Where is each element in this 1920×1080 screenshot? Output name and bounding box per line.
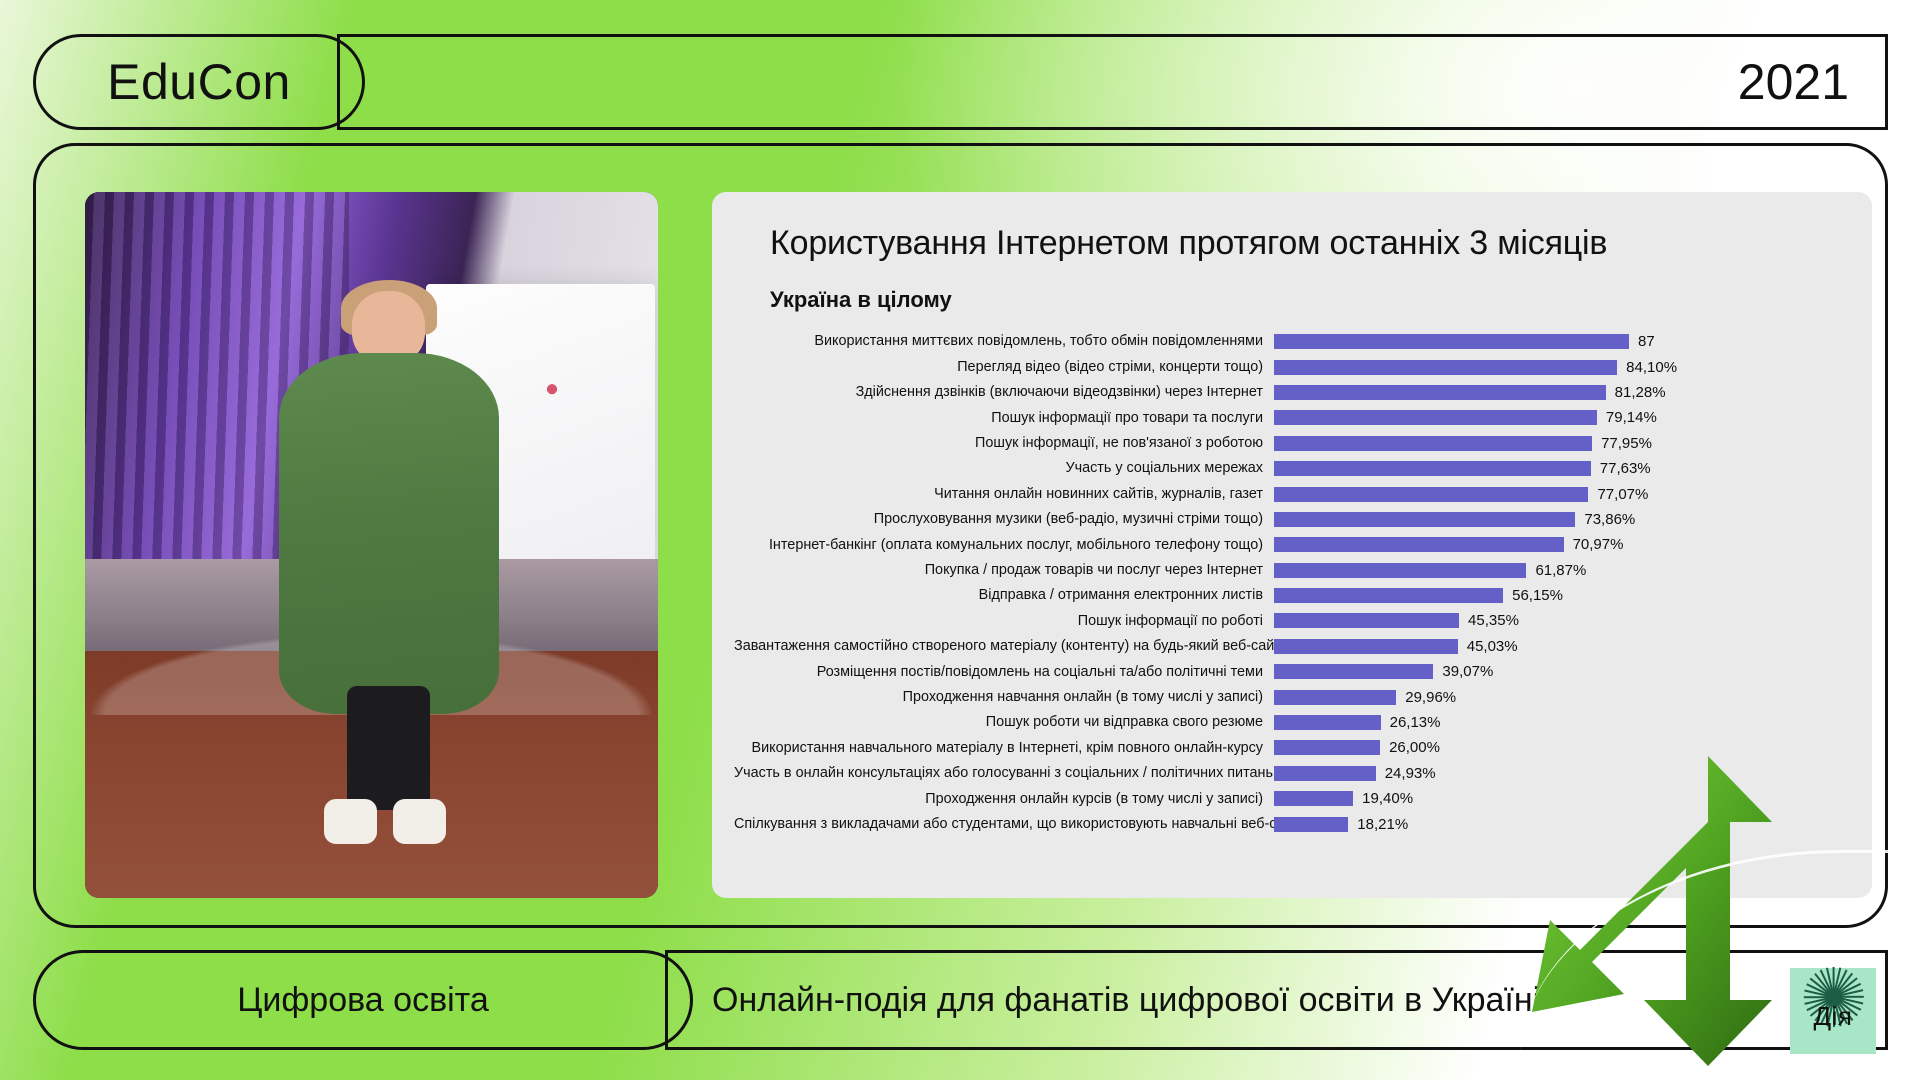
chart-row-label: Проходження онлайн курсів (в тому числі …: [734, 792, 1274, 806]
chart-value-label: 56,15%: [1503, 587, 1563, 604]
chart-row: Відправка / отримання електронних листів…: [734, 583, 1842, 608]
chart-row-bar-wrap: 29,96%: [1274, 684, 1842, 709]
photo-speaker-coat: [279, 353, 499, 714]
chart-row-label: Пошук інформації, не пов'язаної з робото…: [734, 436, 1274, 450]
chart-row-label: Участь в онлайн консультаціях або голосу…: [734, 766, 1274, 780]
chart-value-label: 26,00%: [1380, 739, 1440, 756]
chart-row-label: Участь у соціальних мережах: [734, 461, 1274, 475]
chart-value-label: 79,14%: [1597, 409, 1657, 426]
chart-bar: [1274, 740, 1380, 755]
year-label: 2021: [1738, 53, 1849, 111]
chart-value-label: 24,93%: [1376, 765, 1436, 782]
chart-value-label: 77,63%: [1591, 460, 1651, 477]
chart-row-bar-wrap: 45,35%: [1274, 608, 1842, 633]
footer-topic-label: Цифрова освіта: [237, 981, 489, 1020]
chart-bar: [1274, 512, 1575, 527]
chart-row-bar-wrap: 26,13%: [1274, 710, 1842, 735]
speaker-photo: [85, 192, 658, 898]
chart-bar: [1274, 715, 1381, 730]
photo-speaker-legs: [347, 686, 430, 810]
footer-tagline-bar: Онлайн-подія для фанатів цифрової освіти…: [665, 950, 1888, 1050]
chart-row: Розміщення постів/повідомлень на соціаль…: [734, 659, 1842, 684]
chart-value-label: 26,13%: [1381, 714, 1441, 731]
slide-footer: Цифрова освіта Онлайн-подія для фанатів …: [33, 950, 1888, 1050]
chart-value-label: 18,21%: [1348, 816, 1408, 833]
chart-row: Покупка / продаж товарів чи послуг через…: [734, 558, 1842, 583]
photo-screen-logo: [545, 382, 559, 398]
chart-row-label: Спілкування з викладачами або студентами…: [734, 817, 1274, 831]
chart-row: Проходження онлайн курсів (в тому числі …: [734, 786, 1842, 811]
chart-row: Пошук інформації, не пов'язаної з робото…: [734, 431, 1842, 456]
diia-logo: Дія: [1790, 968, 1876, 1054]
chart-bar: [1274, 461, 1591, 476]
chart-bar: [1274, 334, 1629, 349]
chart-card: Користування Інтернетом протягом останні…: [712, 192, 1872, 898]
chart-row-bar-wrap: 81,28%: [1274, 380, 1842, 405]
chart-title: Користування Інтернетом протягом останні…: [770, 224, 1842, 263]
chart-bar: [1274, 487, 1588, 502]
chart-value-label: 87: [1629, 333, 1655, 350]
chart-value-label: 19,40%: [1353, 790, 1413, 807]
educon-brand-pill: EduCon: [33, 34, 365, 130]
chart-subtitle: Україна в цілому: [770, 287, 1842, 313]
chart-bar: [1274, 537, 1564, 552]
chart-row-bar-wrap: 79,14%: [1274, 405, 1842, 430]
chart-row-bar-wrap: 26,00%: [1274, 735, 1842, 760]
chart-value-label: 84,10%: [1617, 359, 1677, 376]
chart-bar: [1274, 817, 1348, 832]
chart-row-label: Здійснення дзвінків (включаючи відеодзві…: [734, 385, 1274, 399]
chart-row-label: Відправка / отримання електронних листів: [734, 588, 1274, 602]
chart-row-label: Пошук роботи чи відправка свого резюме: [734, 715, 1274, 729]
chart-bar: [1274, 766, 1376, 781]
chart-row-label: Пошук інформації по роботі: [734, 614, 1274, 628]
slide-header: EduCon 2021: [33, 34, 1888, 130]
chart-row: Завантаження самостійно створеного матер…: [734, 634, 1842, 659]
chart-row: Проходження навчання онлайн (в тому числ…: [734, 684, 1842, 709]
chart-row-label: Інтернет-банкінг (оплата комунальних пос…: [734, 538, 1274, 552]
photo-speaker-shoe-right: [393, 799, 446, 844]
chart-bar: [1274, 436, 1592, 451]
footer-tagline-label: Онлайн-подія для фанатів цифрової освіти…: [712, 981, 1540, 1020]
chart-value-label: 39,07%: [1433, 663, 1493, 680]
chart-value-label: 77,07%: [1588, 486, 1648, 503]
chart-bar: [1274, 360, 1617, 375]
chart-row-bar-wrap: 77,95%: [1274, 431, 1842, 456]
chart-bar: [1274, 690, 1396, 705]
diia-logo-label: Дія: [1814, 1001, 1853, 1032]
chart-row-label: Читання онлайн новинних сайтів, журналів…: [734, 487, 1274, 501]
chart-row-bar-wrap: 73,86%: [1274, 507, 1842, 532]
photo-speaker-shoe-left: [324, 799, 377, 844]
chart-bar: [1274, 639, 1458, 654]
chart-row: Читання онлайн новинних сайтів, журналів…: [734, 481, 1842, 506]
chart-row-bar-wrap: 77,63%: [1274, 456, 1842, 481]
footer-topic-pill: Цифрова освіта: [33, 950, 693, 1050]
chart-row-bar-wrap: 39,07%: [1274, 659, 1842, 684]
chart-row-bar-wrap: 19,40%: [1274, 786, 1842, 811]
chart-row: Використання миттєвих повідомлень, тобто…: [734, 329, 1842, 354]
photo-speaker-figure: [274, 291, 503, 856]
chart-row-bar-wrap: 70,97%: [1274, 532, 1842, 557]
chart-row-label: Перегляд відео (відео стріми, концерти т…: [734, 360, 1274, 374]
chart-bar: [1274, 588, 1503, 603]
chart-row: Спілкування з викладачами або студентами…: [734, 811, 1842, 836]
chart-row-bar-wrap: 61,87%: [1274, 558, 1842, 583]
chart-value-label: 70,97%: [1564, 536, 1624, 553]
chart-row: Перегляд відео (відео стріми, концерти т…: [734, 354, 1842, 379]
chart-row: Використання навчального матеріалу в Інт…: [734, 735, 1842, 760]
chart-value-label: 73,86%: [1575, 511, 1635, 528]
chart-value-label: 81,28%: [1606, 384, 1666, 401]
chart-value-label: 61,87%: [1526, 562, 1586, 579]
chart-row-label: Завантаження самостійно створеного матер…: [734, 639, 1274, 653]
chart-row: Пошук роботи чи відправка свого резюме26…: [734, 710, 1842, 735]
chart-row-label: Покупка / продаж товарів чи послуг через…: [734, 563, 1274, 577]
chart-row-label: Розміщення постів/повідомлень на соціаль…: [734, 665, 1274, 679]
chart-value-label: 45,03%: [1458, 638, 1518, 655]
chart-row-bar-wrap: 18,21%: [1274, 811, 1842, 836]
chart-bar: [1274, 791, 1353, 806]
chart-row: Прослуховування музики (веб-радіо, музич…: [734, 507, 1842, 532]
chart-row-label: Проходження навчання онлайн (в тому числ…: [734, 690, 1274, 704]
chart-bar: [1274, 613, 1459, 628]
chart-row: Участь у соціальних мережах77,63%: [734, 456, 1842, 481]
chart-row-bar-wrap: 45,03%: [1274, 634, 1842, 659]
chart-row-label: Використання миттєвих повідомлень, тобто…: [734, 334, 1274, 348]
chart-row-label: Прослуховування музики (веб-радіо, музич…: [734, 512, 1274, 526]
chart-row: Інтернет-банкінг (оплата комунальних пос…: [734, 532, 1842, 557]
chart-row-label: Використання навчального матеріалу в Інт…: [734, 741, 1274, 755]
brand-label: EduCon: [107, 53, 291, 111]
chart-bar: [1274, 385, 1606, 400]
chart-row: Пошук інформації про товари та послуги79…: [734, 405, 1842, 430]
chart-row-bar-wrap: 87: [1274, 329, 1842, 354]
chart-bar-list: Використання миттєвих повідомлень, тобто…: [734, 329, 1842, 837]
chart-value-label: 77,95%: [1592, 435, 1652, 452]
header-year-bar: 2021: [337, 34, 1888, 130]
presentation-slide: EduCon 2021 Користування Інтернетом прот…: [0, 0, 1920, 1080]
chart-row-bar-wrap: 56,15%: [1274, 583, 1842, 608]
chart-row: Пошук інформації по роботі45,35%: [734, 608, 1842, 633]
chart-value-label: 45,35%: [1459, 612, 1519, 629]
chart-row-bar-wrap: 77,07%: [1274, 481, 1842, 506]
chart-bar: [1274, 664, 1433, 679]
chart-row: Здійснення дзвінків (включаючи відеодзві…: [734, 380, 1842, 405]
chart-bar: [1274, 410, 1597, 425]
chart-row-bar-wrap: 84,10%: [1274, 354, 1842, 379]
chart-value-label: 29,96%: [1396, 689, 1456, 706]
chart-row-label: Пошук інформації про товари та послуги: [734, 411, 1274, 425]
chart-row-bar-wrap: 24,93%: [1274, 761, 1842, 786]
chart-bar: [1274, 563, 1526, 578]
chart-row: Участь в онлайн консультаціях або голосу…: [734, 761, 1842, 786]
